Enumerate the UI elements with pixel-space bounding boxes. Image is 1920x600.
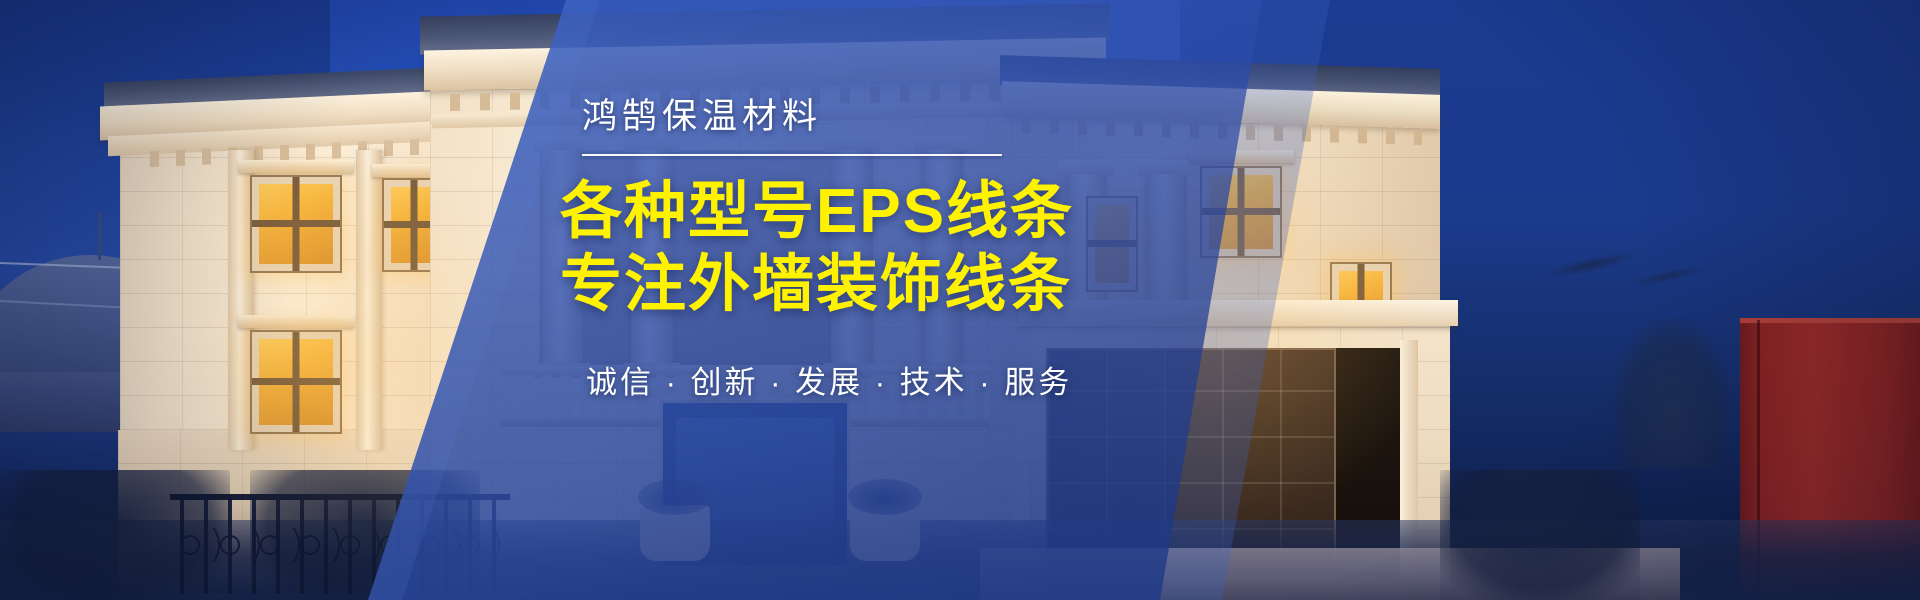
window-mullion-horizontal	[252, 220, 340, 227]
hero-banner: 鸿鹄保温材料 各种型号EPS线条 专注外墙装饰线条 诚信 · 创新 · 发展 ·…	[0, 0, 1920, 600]
iron-railing-scrollwork	[180, 528, 500, 562]
planter	[850, 505, 920, 561]
hedge	[1440, 470, 1640, 600]
window-mullion-horizontal	[252, 378, 340, 385]
lit-window	[250, 330, 342, 434]
headline-line-1: 各种型号EPS线条	[560, 177, 1074, 246]
red-wall-cap	[1740, 318, 1920, 323]
headline: 各种型号EPS线条 专注外墙装饰线条	[560, 176, 1260, 321]
headline-line-2: 专注外墙装饰线条	[560, 249, 1260, 322]
banner-text-block: 鸿鹄保温材料 各种型号EPS线条 专注外墙装饰线条 诚信 · 创新 · 发展 ·…	[560, 96, 1260, 402]
title-divider	[582, 154, 1002, 156]
tree	[1612, 318, 1732, 468]
brand-name: 鸿鹄保温材料	[582, 96, 1260, 138]
lit-window	[250, 175, 342, 273]
planter	[640, 505, 710, 561]
pilaster	[356, 150, 382, 450]
window-hood	[238, 160, 354, 173]
tagline: 诚信 · 创新 · 发展 · 技术 · 服务	[586, 357, 1260, 402]
dome-spire-icon	[98, 212, 101, 260]
window-hood	[238, 315, 354, 328]
